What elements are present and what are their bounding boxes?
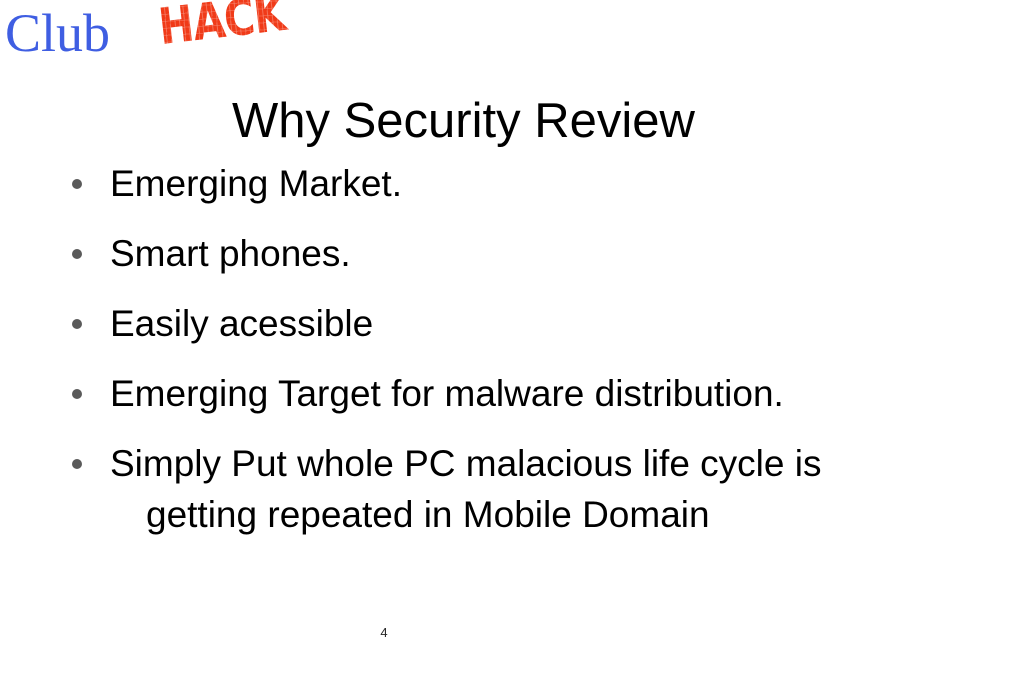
bullet-dot-icon: [72, 459, 82, 469]
bullet-dot-icon: [72, 249, 82, 259]
bullet-dot-icon: [72, 179, 82, 189]
slide-canvas: Club HACK Why Security Review Emerging M…: [0, 0, 1024, 683]
list-item: Emerging Target for malware distribution…: [64, 368, 984, 438]
bullet-dot-icon: [72, 389, 82, 399]
list-item: Easily acessible: [64, 298, 984, 368]
bullet-text-5-continued: getting repeated in Mobile Domain: [110, 489, 984, 540]
bullet-text-3: Easily acessible: [110, 298, 984, 349]
bullet-list: Emerging Market. Smart phones. Easily ac…: [64, 158, 984, 540]
bullet-text-4: Emerging Target for malware distribution…: [110, 368, 984, 419]
bullet-text-1: Emerging Market.: [110, 158, 984, 209]
list-item: Emerging Market.: [64, 158, 984, 228]
bullet-text-2: Smart phones.: [110, 228, 984, 279]
list-item: Simply Put whole PC malacious life cycle…: [64, 438, 984, 540]
clubhack-logo: Club HACK: [2, 2, 322, 64]
slide-title: Why Security Review: [232, 91, 932, 151]
logo-hack-text: HACK: [156, 0, 288, 54]
bullet-text-5: Simply Put whole PC malacious life cycle…: [110, 438, 984, 489]
page-number: 4: [0, 624, 768, 642]
logo-club-text: Club: [5, 4, 110, 62]
bullet-dot-icon: [72, 319, 82, 329]
list-item: Smart phones.: [64, 228, 984, 298]
